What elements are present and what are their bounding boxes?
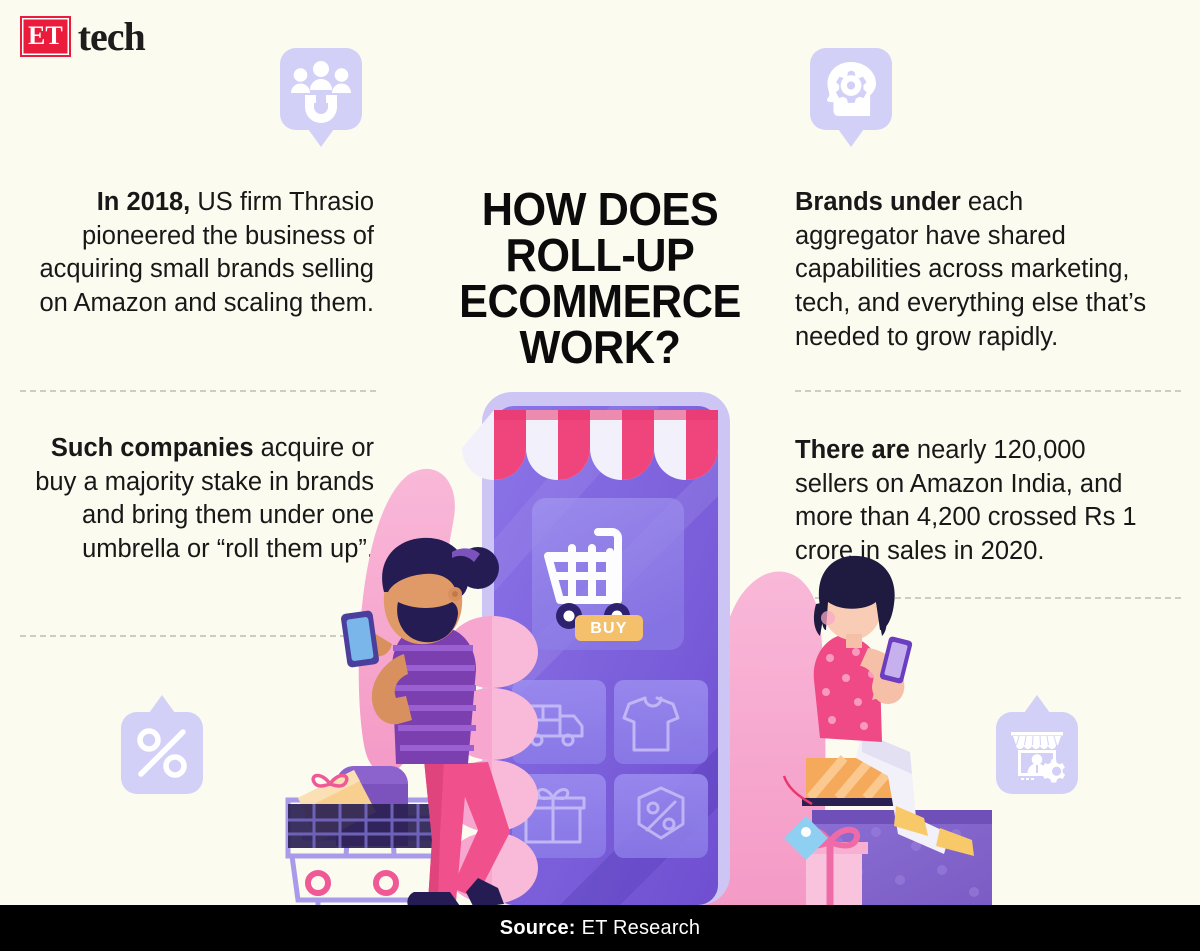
- head-gear-icon: [810, 48, 892, 130]
- title-line-2: ROLL-UP: [412, 232, 788, 278]
- source-footer: Source: ET Research: [0, 905, 1200, 951]
- fact-lead: Brands under: [795, 188, 961, 216]
- title-line-1: HOW DOES: [412, 186, 788, 232]
- handheld-phone-right: [879, 636, 913, 684]
- badge-tail: [308, 129, 334, 147]
- page-title: HOW DOES ROLL-UP ECOMMERCE WORK?: [412, 186, 788, 370]
- badge-tail: [838, 129, 864, 147]
- source-label: Source:: [500, 917, 576, 940]
- fact-body: US firm Thrasio pioneered the business o…: [39, 188, 374, 317]
- fact-right-1: Brands under each aggregator have shared…: [795, 186, 1151, 354]
- source-value: ET Research: [582, 917, 701, 940]
- shopping-cart-panel: BUY: [532, 498, 684, 650]
- buy-button: BUY: [575, 615, 643, 641]
- illustration: BUY: [0, 380, 1200, 905]
- fact-lead: In 2018,: [97, 188, 191, 216]
- logo-mark-et: ET: [20, 16, 71, 57]
- fact-left-1: In 2018, US firm Thrasio pioneered the b…: [18, 186, 374, 321]
- title-line-4: WORK?: [412, 324, 788, 370]
- people-magnet-icon: [280, 48, 362, 130]
- et-tech-logo: ET tech: [20, 16, 145, 57]
- logo-wordmark-tech: tech: [78, 18, 145, 56]
- svg-text:BUY: BUY: [590, 620, 627, 637]
- infographic-page: ET tech: [0, 0, 1200, 951]
- title-line-3: ECOMMERCE: [412, 278, 788, 324]
